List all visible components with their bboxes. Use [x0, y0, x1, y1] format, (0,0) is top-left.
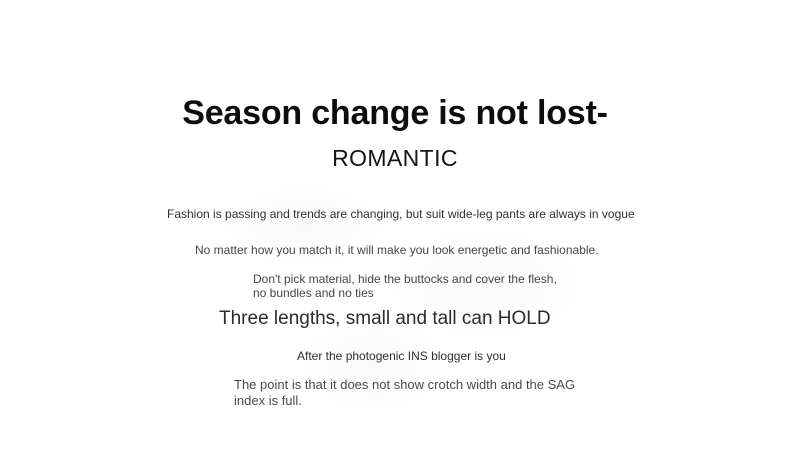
body-paragraph-1: Fashion is passing and trends are changi…	[167, 206, 635, 222]
body-heading-three-lengths: Three lengths, small and tall can HOLD	[219, 307, 551, 331]
page-title: Season change is not lost-	[0, 92, 790, 134]
body-paragraph-2: No matter how you match it, it will make…	[195, 242, 599, 258]
page-subtitle: ROMANTIC	[0, 143, 790, 173]
body-paragraph-4: After the photogenic INS blogger is you	[297, 348, 506, 364]
article-page: Season change is not lost- ROMANTIC Fash…	[0, 0, 790, 470]
body-paragraph-5: The point is that it does not show crotc…	[234, 377, 575, 409]
body-paragraph-3: Don't pick material, hide the buttocks a…	[253, 272, 557, 300]
